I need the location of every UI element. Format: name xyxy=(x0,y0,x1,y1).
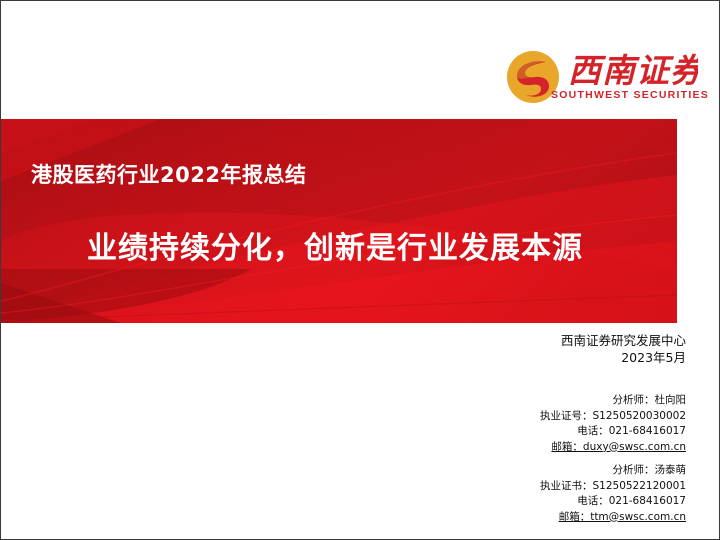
organization-block: 西南证券研究发展中心 2023年5月 xyxy=(421,332,686,366)
analyst-certificate-2: 执业证书：S1250522120001 xyxy=(421,479,686,495)
analyst-email-2[interactable]: 邮箱：ttm@swsc.com.cn xyxy=(421,510,686,526)
analyst-phone-2: 电话：021-68416017 xyxy=(421,494,686,510)
title-banner xyxy=(1,119,677,323)
banner-background-graphic xyxy=(1,119,677,323)
organization-name: 西南证券研究发展中心 xyxy=(421,332,686,349)
analyst-email-1[interactable]: 邮箱：duxy@swsc.com.cn xyxy=(421,440,686,456)
brand-wordmark-en: SOUTHWEST SECURITIES xyxy=(551,89,696,101)
banner-subtitle: 港股医药行业2022年报总结 xyxy=(31,159,306,189)
banner-headline: 业绩持续分化，创新是行业发展本源 xyxy=(87,223,583,267)
analyst-name-1: 分析师：杜向阳 xyxy=(421,393,686,409)
analyst-block-1: 分析师：杜向阳 执业证号：S1250520030002 电话：021-68416… xyxy=(421,393,686,455)
report-cover-slide: 西南证券 SOUTHWEST SECURITIES xyxy=(0,0,720,540)
report-date: 2023年5月 xyxy=(421,349,686,366)
analyst-block-2: 分析师：汤泰萌 执业证书：S1250522120001 电话：021-68416… xyxy=(421,463,686,525)
analyst-phone-1: 电话：021-68416017 xyxy=(421,424,686,440)
brand-wordmark-cn-icon: 西南证券 xyxy=(568,48,698,92)
analyst-name-2: 分析师：汤泰萌 xyxy=(421,463,686,479)
svg-text:西南证券: 西南证券 xyxy=(568,51,698,90)
analyst-certificate-1: 执业证号：S1250520030002 xyxy=(421,409,686,425)
brand-logo: 西南证券 SOUTHWEST SECURITIES xyxy=(506,48,696,110)
